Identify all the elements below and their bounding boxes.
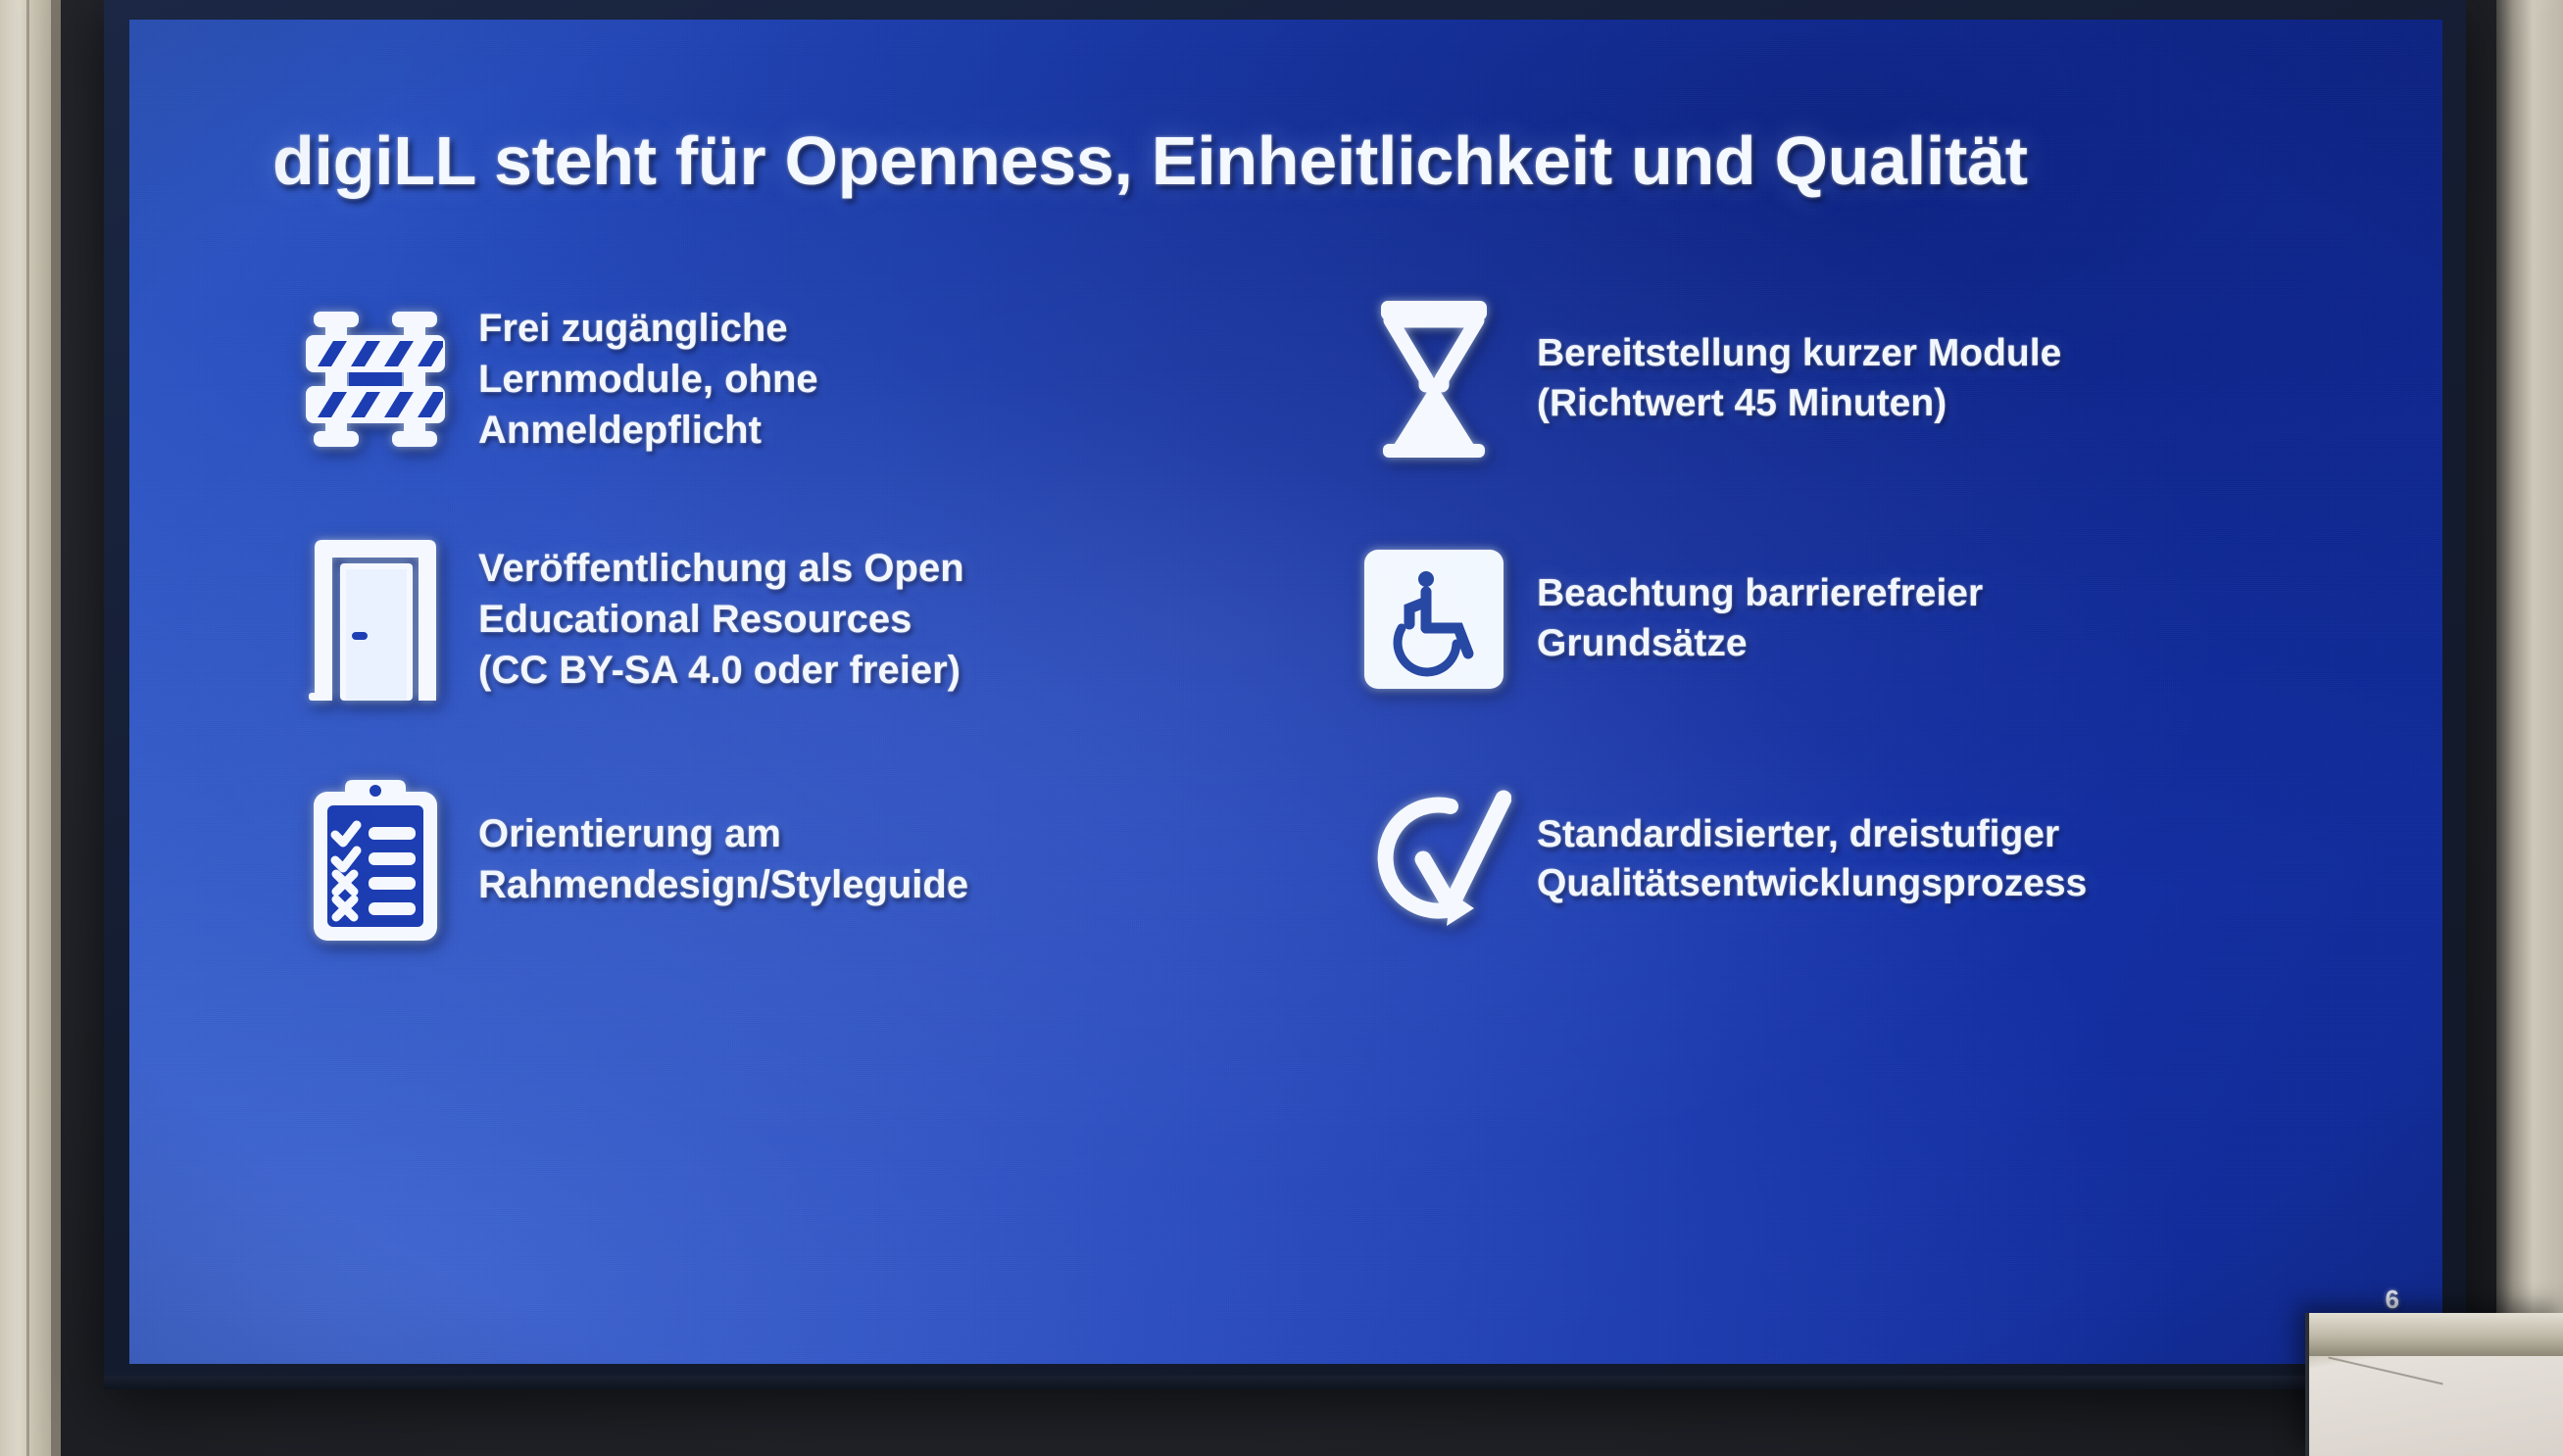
projection-screen-bezel: digiLL steht für Openness, Einheitlichke…	[104, 0, 2466, 1383]
screen-bottom-frame	[104, 1376, 2466, 1389]
hourglass-icon	[1331, 286, 1537, 472]
bullet-item-accessibility: Beachtung barrierefreier Grundsätze	[1331, 516, 2272, 721]
left-wall-panel	[0, 0, 51, 1456]
wall-seam	[26, 0, 29, 1456]
bullet-text: Standardisierter, dreistufiger Qualitäts…	[1537, 810, 2272, 909]
bullet-item-styleguide: Orientierung am Rahmendesign/Styleguide	[272, 757, 1213, 962]
bullet-grid: Frei zugängliche Lernmodule, ohne Anmeld…	[272, 276, 2272, 962]
presentation-slide: digiLL steht für Openness, Einheitlichke…	[129, 20, 2442, 1364]
open-door-icon	[272, 526, 478, 712]
bullet-text: Bereitstellung kurzer Module (Richtwert …	[1537, 329, 2272, 428]
slide-page-number: 6	[2386, 1285, 2399, 1315]
right-wall-panel	[2496, 0, 2563, 1456]
left-wall-edge-shadow	[51, 0, 61, 1456]
road-barrier-icon	[272, 286, 478, 472]
bullet-text: Orientierung am Rahmendesign/Styleguide	[478, 808, 1213, 910]
cycle-checkmark-icon	[1331, 766, 1537, 952]
flipchart-paper-fold	[2328, 1357, 2442, 1385]
foreground-flipchart-board	[2305, 1313, 2563, 1456]
bullet-item-short-modules: Bereitstellung kurzer Module (Richtwert …	[1331, 276, 2272, 481]
slide-content: digiLL steht für Openness, Einheitlichke…	[129, 20, 2442, 1364]
bullet-text: Veröffentlichung als Open Educational Re…	[478, 543, 1213, 696]
bullet-item-oer-license: Veröffentlichung als Open Educational Re…	[272, 516, 1213, 721]
wheelchair-accessibility-icon	[1331, 526, 1537, 712]
bullet-text: Beachtung barrierefreier Grundsätze	[1537, 569, 2272, 668]
clipboard-checklist-icon	[272, 766, 478, 952]
bullet-text: Frei zugängliche Lernmodule, ohne Anmeld…	[478, 303, 1213, 456]
slide-title: digiLL steht für Openness, Einheitlichke…	[272, 121, 2317, 200]
photographed-room-scene: digiLL steht für Openness, Einheitlichke…	[0, 0, 2563, 1456]
flipchart-rail	[2309, 1313, 2563, 1356]
bullet-item-quality-process: Standardisierter, dreistufiger Qualitäts…	[1331, 757, 2272, 962]
bullet-item-open-access: Frei zugängliche Lernmodule, ohne Anmeld…	[272, 276, 1213, 481]
